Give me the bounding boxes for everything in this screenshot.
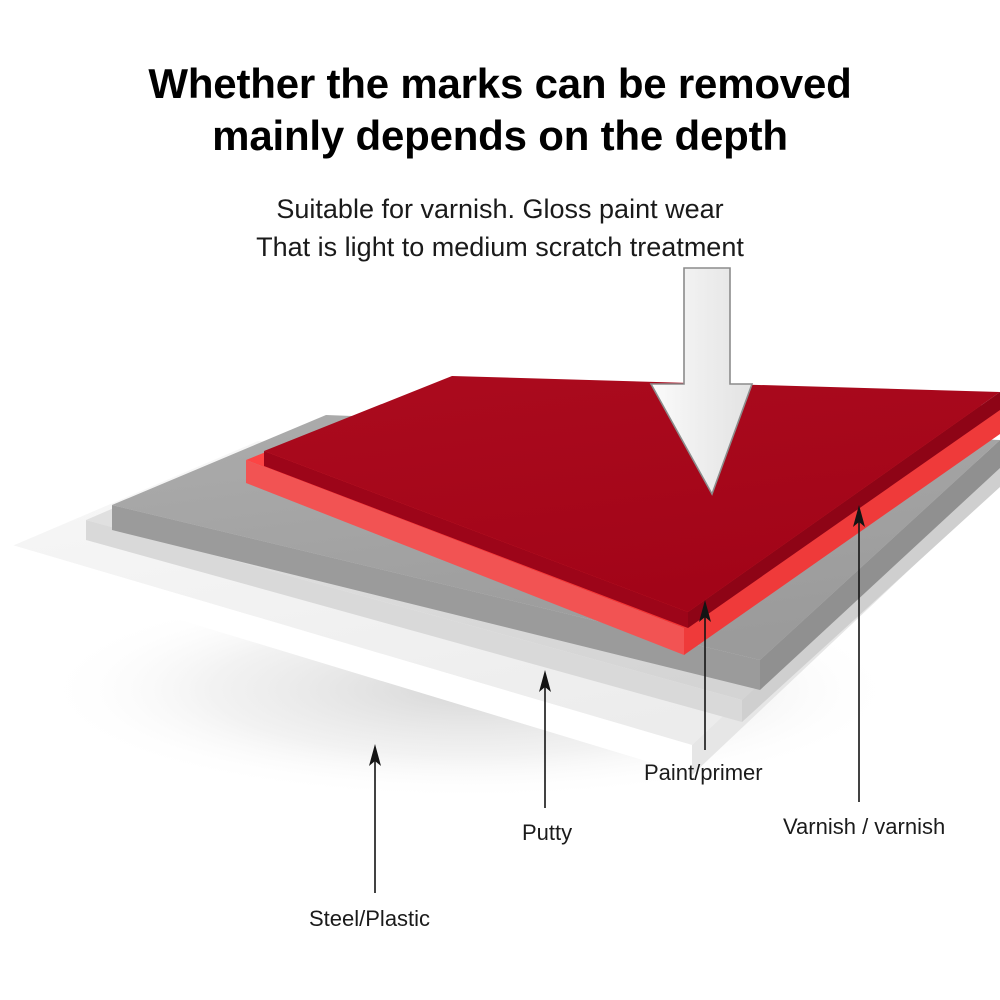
callout-label-putty: Putty xyxy=(522,820,572,846)
callout-label-steel-plastic: Steel/Plastic xyxy=(309,906,430,932)
paint-layer-cross-section-diagram xyxy=(0,0,1000,1000)
callout-label-varnish: Varnish / varnish xyxy=(783,814,945,840)
callout-label-paint-primer: Paint/primer xyxy=(644,760,763,786)
